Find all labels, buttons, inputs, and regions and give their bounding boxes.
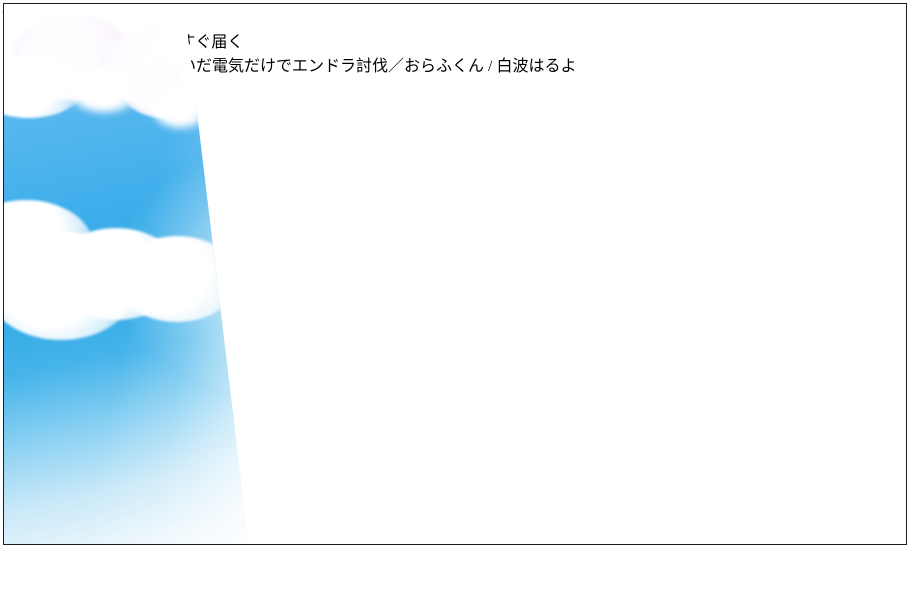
poster-card: 壁だって突き抜けられる ほんものの白い光はまっすぐ届く 【推し短歌】自転車でこい… bbox=[3, 3, 907, 545]
photo-edge-fade bbox=[4, 4, 304, 544]
sky-photo bbox=[4, 4, 304, 544]
tanzaku-poster: 壁だって突き抜けられる ほんものの白い光はまっすぐ届く 【推し短歌】自転車でこい… bbox=[0, 0, 910, 590]
